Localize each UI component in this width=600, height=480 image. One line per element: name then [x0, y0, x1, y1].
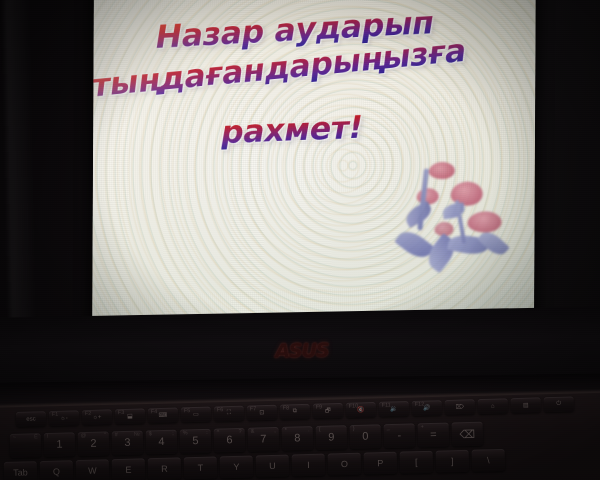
key-label: 4: [158, 436, 164, 448]
key-label: I: [307, 460, 310, 470]
key-alt-label: F1: [52, 412, 59, 418]
key-alt2-label: ?: [239, 429, 242, 435]
key-label: ⏻: [556, 401, 561, 408]
key-alt-label: #: [115, 432, 118, 438]
key-⌨[interactable]: F4⌨: [148, 407, 178, 423]
key-i[interactable]: I: [292, 454, 326, 477]
key-label: ▤: [523, 402, 529, 409]
key-label: 🔊: [423, 404, 431, 411]
key-5[interactable]: %:5: [180, 429, 212, 454]
asus-logo: ASUS: [252, 339, 352, 363]
key-p[interactable]: P: [364, 452, 398, 475]
key-label: ⧉: [293, 408, 297, 415]
key-label: R: [161, 464, 168, 474]
key-label: Q: [53, 467, 60, 477]
key-alt-label: ^: [217, 430, 220, 436]
laptop-screen[interactable]: Назар аударып тыңдағандарыңызға рахмет!: [92, 0, 536, 329]
key-label: 🔇: [357, 406, 365, 413]
key-label: ⛶: [227, 410, 231, 417]
key-label: Y: [233, 462, 239, 472]
key-label: O: [341, 459, 348, 469]
key-=[interactable]: +=: [418, 423, 450, 448]
key-label: 🔉: [390, 405, 398, 412]
key-⌂[interactable]: ⌂: [478, 398, 508, 414]
key-label: Tab: [13, 467, 28, 477]
key-▭[interactable]: F5▭: [181, 407, 211, 423]
presentation-slide: Назар аударып тыңдағандарыңызға рахмет!: [92, 0, 536, 329]
key-label: ]: [451, 456, 454, 466]
key-label: ⬓: [127, 413, 133, 420]
key-label: W: [88, 466, 97, 476]
key-label: \: [487, 455, 490, 465]
key-1[interactable]: !1: [44, 432, 76, 457]
key-label: P: [377, 458, 383, 468]
key-label: 5: [192, 435, 198, 447]
key-t[interactable]: T: [184, 456, 218, 479]
key-label: T: [198, 463, 204, 473]
key-label: =: [430, 429, 437, 441]
key-alt-label: +: [421, 424, 424, 430]
key-alt-label: @: [81, 433, 87, 439]
key-tab[interactable]: Tab: [4, 461, 38, 480]
key-label: 7: [260, 433, 266, 445]
key-alt-label: F8: [283, 405, 290, 411]
key-alt-label: ~: [13, 435, 16, 441]
key-4[interactable]: $;4: [146, 430, 178, 455]
key-label: 2: [90, 438, 96, 450]
key-label: 0: [362, 431, 368, 443]
key-alt2-label: ,: [274, 428, 276, 434]
key-⌦[interactable]: ⌦: [445, 399, 475, 415]
key--[interactable]: _-: [384, 423, 416, 448]
key-q[interactable]: Q: [40, 460, 74, 480]
key-🔇[interactable]: F10🔇: [346, 402, 376, 418]
key-alt2-label: №: [134, 432, 140, 438]
key-o[interactable]: O: [328, 453, 362, 476]
key-alt2-label: .: [308, 427, 310, 433]
key-alt-label: ): [353, 426, 355, 432]
key-⌫[interactable]: ⌫: [452, 422, 484, 447]
key-alt-label: F2: [85, 411, 92, 417]
key-alt-label: F6: [217, 407, 224, 413]
key-label: U: [269, 461, 276, 471]
key-⊡[interactable]: F7⊡: [247, 405, 277, 421]
key-label: ▭: [193, 411, 199, 418]
key-alt2-label: Ё: [34, 434, 38, 440]
key-\[interactable]: \: [472, 449, 506, 472]
key-label: 3: [124, 437, 130, 449]
key-label: [: [415, 457, 418, 467]
key-7[interactable]: &,7: [248, 427, 280, 452]
key-u[interactable]: U: [256, 455, 290, 478]
key-r[interactable]: R: [148, 457, 182, 480]
key-label: ⌂: [491, 403, 495, 409]
key-alt2-label: ": [104, 432, 106, 438]
key-label: 9: [328, 432, 334, 444]
key-🔉[interactable]: F11🔉: [379, 401, 409, 417]
key-☼-[interactable]: F1☼-: [49, 410, 79, 426]
key-alt-label: $: [149, 431, 152, 437]
key-y[interactable]: Y: [220, 455, 254, 478]
key-6[interactable]: ^?6: [214, 428, 246, 453]
key-2[interactable]: @"2: [78, 431, 110, 456]
key-3[interactable]: #№3: [112, 431, 144, 456]
key-label: 8: [294, 432, 300, 444]
key-w[interactable]: W: [76, 459, 110, 480]
key-🔊[interactable]: F12🔊: [412, 400, 442, 416]
key-alt-label: F4: [151, 409, 158, 415]
key-alt2-label: ;: [172, 431, 174, 437]
key-label: ⌫: [459, 427, 475, 440]
key-⛶[interactable]: F6⛶: [214, 406, 244, 422]
key-label: ⌨: [159, 412, 168, 419]
key-alt-label: F5: [184, 408, 191, 414]
key-alt-label: F7: [250, 406, 257, 412]
key-alt-label: %: [183, 430, 188, 436]
key-label: E: [125, 465, 131, 475]
key-][interactable]: ]: [436, 450, 470, 473]
key-label: 1: [56, 439, 62, 451]
key-⏻[interactable]: ⏻: [544, 396, 574, 412]
key-⬓[interactable]: F3⬓: [115, 408, 145, 424]
key-label: ⌦: [455, 403, 464, 410]
screen-vignette: [92, 0, 536, 329]
key-label: esc: [26, 416, 36, 422]
key-label: -: [397, 430, 401, 442]
key-alt-label: *: [285, 428, 287, 434]
key-label: ☼-: [60, 415, 68, 421]
key-☼+[interactable]: F2☼+: [82, 409, 112, 425]
key-alt-label: _: [387, 425, 390, 431]
key-alt2-label: :: [206, 430, 208, 436]
key-⧉[interactable]: F8⧉: [280, 404, 310, 420]
key-[[interactable]: [: [400, 451, 434, 474]
key-label: ⊡: [259, 409, 264, 416]
key-alt-label: !: [47, 434, 49, 440]
laptop-photo: Назар аударып тыңдағандарыңызға рахмет! …: [0, 0, 600, 480]
key-e[interactable]: E: [112, 458, 146, 480]
key-8[interactable]: *.8: [282, 426, 314, 451]
key-▤[interactable]: ▤: [511, 397, 541, 413]
key-label: 🗗: [325, 406, 331, 416]
key-blank[interactable]: ~Ё: [10, 433, 42, 458]
key-9[interactable]: (9: [316, 425, 348, 450]
key-🗗[interactable]: F9🗗: [313, 403, 343, 419]
key-label: 6: [226, 434, 232, 446]
key-alt-label: F3: [118, 410, 125, 416]
key-alt-label: F9: [316, 404, 323, 410]
key-label: ☼+: [92, 414, 101, 420]
key-esc[interactable]: esc: [16, 411, 46, 427]
key-alt-label: (: [319, 427, 321, 433]
key-0[interactable]: )0: [350, 424, 382, 449]
key-alt-label: &: [251, 429, 255, 435]
